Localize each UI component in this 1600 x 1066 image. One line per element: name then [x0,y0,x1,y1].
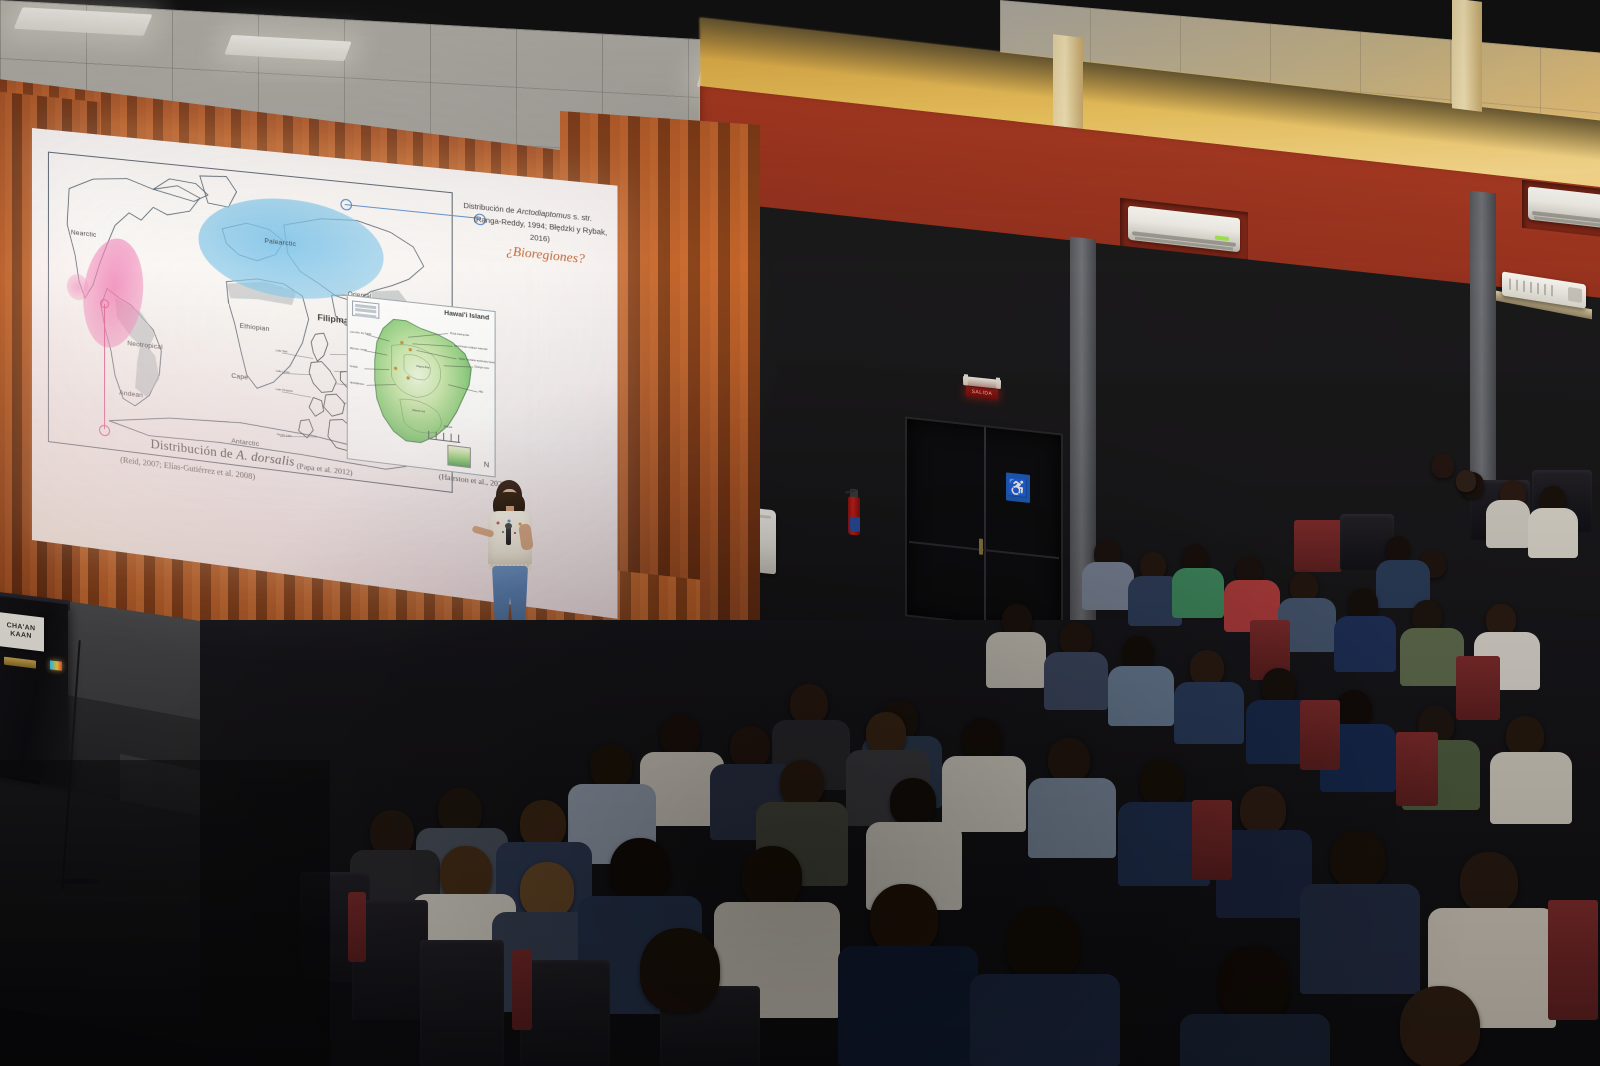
pink-callout-ring-text [99,424,110,436]
audience-member-head [870,884,938,954]
extinguisher-body [848,496,860,535]
ac-status-led [1215,235,1229,241]
audience-member-head [1262,668,1296,704]
exit-sign-label: SALIDA [966,386,998,399]
audience-member-body [1334,616,1396,672]
audience-member-head [1456,470,1476,492]
svg-text:Hilo: Hilo [479,390,484,394]
svg-text:Kilauea: Kilauea [444,425,453,429]
audience-member-head [1048,738,1090,782]
audience-member-body [1400,628,1464,686]
audience-member-head [1336,690,1372,728]
theater-seat[interactable] [1396,732,1438,806]
theater-seat[interactable] [1548,900,1598,1020]
audience-member-head [1400,986,1480,1066]
audience-member-head [640,928,720,1012]
audience-member-body [1486,500,1530,548]
svg-text:Mid elev. mesic: Mid elev. mesic [350,347,368,352]
audience-member-head [1190,650,1224,686]
theater-seat[interactable] [1294,520,1342,572]
theater-seat[interactable] [1300,700,1340,770]
audience-member-head [1506,716,1544,756]
audience-member-head [1140,760,1184,806]
audience-member-body [1108,666,1174,726]
audience-member-body [1300,884,1420,994]
auditorium-scene: SALIDA ♿ [0,0,1600,1066]
audience-member-head [1060,622,1092,656]
audience-member-head [962,718,1002,760]
audience-member-body [1044,652,1108,710]
audience-member-head [610,838,670,900]
audience-member-head [1218,946,1290,1022]
audience-member-head [520,800,566,848]
audience-member-body [1174,682,1244,744]
svg-text:Lake Lanao: Lake Lanao [276,369,291,375]
presenter-jeans [492,566,528,626]
svg-text:Low elev. dry forest: Low elev. dry forest [350,331,372,337]
projector-vent [1509,279,1558,298]
podium: CHA'AN KAAN [0,595,68,784]
theater-seat[interactable] [420,940,504,1066]
audience-member-head [660,714,700,756]
audience-member-body [970,974,1120,1066]
audience-member-head [520,862,574,918]
theater-seat-armrest [348,892,366,962]
audience-member-body [1172,568,1224,618]
door-split-line [984,427,986,623]
podium-indicator-lights [50,660,62,670]
audience-member-head [440,846,492,900]
wheelchair-accessible-icon: ♿ [1006,472,1030,503]
svg-text:Orange zone: Orange zone [474,365,489,370]
svg-text:Lake Taal: Lake Taal [276,348,288,353]
hawaii-elevation-key [447,445,471,469]
audience-member-body [1028,778,1116,858]
venue-logo: CHA'AN KAAN [0,612,44,652]
theater-seat[interactable] [1192,800,1232,880]
audience-member-head [590,744,632,788]
audience-member-head [790,684,828,724]
door-handle[interactable] [979,538,983,554]
theater-seat[interactable] [520,960,610,1066]
audience-member-head [890,778,936,826]
audience-member-head [742,846,802,908]
projector-lens [1568,287,1582,303]
auditorium-exit-doors[interactable]: ♿ [905,416,1063,633]
svg-text:Pond rearing site: Pond rearing site [450,332,470,337]
hawaii-island-shape: Pond rearing site greenhouse outdoor res… [348,296,495,477]
audience-member-body [1082,562,1134,610]
audience-member-head [1006,906,1080,982]
audience-member-head [1432,454,1454,478]
foreground-shadow-left [0,760,330,1066]
audience-member-head [780,760,824,806]
svg-text:Kohala: Kohala [350,365,358,369]
audience-member-body [1180,1014,1330,1066]
svg-text:Hilo/Waimea: Hilo/Waimea [350,381,365,386]
soffit-column [1452,0,1482,112]
audience-member-body [1490,752,1572,824]
handheld-microphone-icon [506,526,511,545]
audience-member-head [730,726,770,768]
audience-member-head [1386,536,1410,562]
wall-column [1470,191,1496,494]
audience-member-head [1240,786,1286,834]
svg-text:Naujan Lake: Naujan Lake [277,432,293,438]
extinguisher-label [850,517,860,532]
hawaii-inset-map: Hawai'i Island [347,295,496,478]
audience-member-body [986,632,1046,688]
arctodiaptomus-title-tail: s. str. [571,212,592,224]
audience-member-body [838,946,978,1066]
theater-seat-armrest [512,950,532,1030]
presenter [468,480,552,640]
audience-member-head [1460,852,1518,912]
north-arrow-icon: N [484,462,489,470]
audience-member-head [1122,636,1154,670]
exit-sign: SALIDA [963,376,1001,402]
fire-extinguisher-icon [847,488,861,535]
svg-text:Lake Pinatubo: Lake Pinatubo [276,387,294,393]
audience-member-head [1330,830,1386,888]
audience-member-body [1528,508,1578,558]
audience-member-body [942,756,1026,832]
audience-member-head [866,712,906,754]
podium-nameplate [4,657,36,669]
blue-callout-ring-map [340,198,352,210]
pink-callout-line [104,304,105,429]
theater-seat[interactable] [1456,656,1500,720]
